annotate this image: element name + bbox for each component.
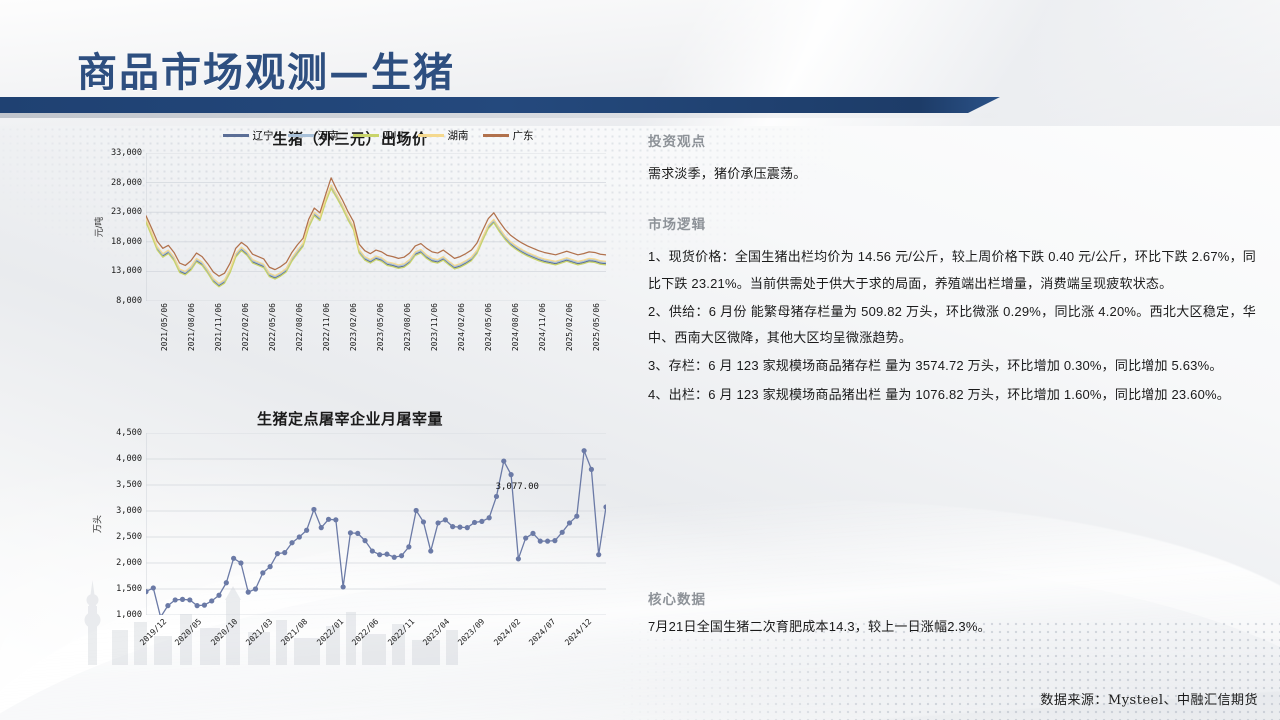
market-logic-item: 2、供给：6 月份 能繁母猪存栏量为 509.82 万头，环比微涨 0.29%，… xyxy=(648,299,1256,352)
core-data-text: 7月21日全国生猪二次育肥成本14.3，较上一日涨幅2.3%。 xyxy=(648,616,1256,638)
core-data-heading: 核心数据 xyxy=(648,588,1256,608)
x-axis-tick: 2022/11/06 xyxy=(322,303,331,351)
market-logic-item: 4、出栏：6 月 123 家规模场商品猪出栏 量为 1076.82 万头，环比增… xyxy=(648,382,1256,408)
x-axis-tick: 2019/12 xyxy=(138,617,168,647)
x-axis-tick: 2024/08/06 xyxy=(511,303,520,351)
x-axis-tick: 2025/02/06 xyxy=(565,303,574,351)
x-axis-tick: 2024/07 xyxy=(527,617,557,647)
x-axis-tick: 2021/11/06 xyxy=(214,303,223,351)
header-accent-bar-shadow xyxy=(0,113,1000,118)
slide-canvas: 商品市场观测—生猪 生猪（外三元）出场价 元/吨 8,00013,00018,0… xyxy=(0,0,1280,720)
x-axis-tick: 2022/02/06 xyxy=(241,303,250,351)
x-axis-tick: 2024/11/06 xyxy=(538,303,547,351)
legend-label: 辽宁 xyxy=(253,128,274,143)
x-axis-tick: 2023/08/06 xyxy=(403,303,412,351)
y-axis-tick: 23,000 xyxy=(111,207,142,217)
x-axis-tick: 2021/05/06 xyxy=(160,303,169,351)
market-logic-list: 1、现货价格：全国生猪出栏均价为 14.56 元/公斤，较上周价格下跌 0.40… xyxy=(648,244,1256,408)
core-data-panel: 核心数据 7月21日全国生猪二次育肥成本14.3，较上一日涨幅2.3%。 xyxy=(648,588,1256,640)
x-axis-tick: 2022/01 xyxy=(315,617,345,647)
y-axis-tick: 1,500 xyxy=(116,584,142,594)
header-accent-bar xyxy=(0,97,920,113)
x-axis-tick: 2022/11 xyxy=(386,617,416,647)
market-logic-heading: 市场逻辑 xyxy=(648,213,1256,233)
y-axis-tick: 2,500 xyxy=(116,532,142,542)
legend-swatch xyxy=(288,134,314,137)
legend-swatch xyxy=(483,134,509,137)
x-axis-tick: 2021/08/06 xyxy=(187,303,196,351)
chart-slaughter-volume: 生猪定点屠宰企业月屠宰量 万头 1,0001,5002,0002,5003,00… xyxy=(90,408,610,673)
legend-swatch xyxy=(418,134,444,137)
y-axis-tick: 3,000 xyxy=(116,506,142,516)
legend-item: 河南 xyxy=(288,128,339,143)
chart-hog-price-xaxis: 2021/05/062021/08/062021/11/062022/02/06… xyxy=(146,301,606,371)
y-axis-tick: 33,000 xyxy=(111,148,142,158)
x-axis-tick: 2024/05/06 xyxy=(484,303,493,351)
investment-view-text: 需求淡季，猪价承压震荡。 xyxy=(648,161,1256,187)
investment-view-heading: 投资观点 xyxy=(648,130,1256,150)
y-axis-tick: 4,000 xyxy=(116,454,142,464)
x-axis-tick: 2020/05 xyxy=(173,617,203,647)
y-axis-tick: 18,000 xyxy=(111,237,142,247)
legend-label: 河南 xyxy=(318,128,339,143)
x-axis-tick: 2022/08/06 xyxy=(295,303,304,351)
x-axis-tick: 2023/11/06 xyxy=(430,303,439,351)
x-axis-tick: 2022/05/06 xyxy=(268,303,277,351)
legend-swatch xyxy=(223,134,249,137)
legend-item: 湖南 xyxy=(418,128,469,143)
x-axis-tick: 2020/10 xyxy=(209,617,239,647)
y-axis-tick: 28,000 xyxy=(111,178,142,188)
x-axis-tick: 2021/08 xyxy=(280,617,310,647)
legend-swatch xyxy=(353,134,379,137)
chart-slaughter-volume-xaxis: 2019/122020/052020/102021/032021/082022/… xyxy=(146,615,606,685)
x-axis-tick: 2024/02 xyxy=(492,617,522,647)
x-axis-tick: 2023/02/06 xyxy=(349,303,358,351)
legend-label: 湖南 xyxy=(448,128,469,143)
legend-item: 辽宁 xyxy=(223,128,274,143)
chart-slaughter-volume-yaxis: 1,0001,5002,0002,5003,0003,5004,0004,500 xyxy=(100,433,144,615)
market-logic-item: 1、现货价格：全国生猪出栏均价为 14.56 元/公斤，较上周价格下跌 0.40… xyxy=(648,244,1256,297)
chart-slaughter-volume-title: 生猪定点屠宰企业月屠宰量 xyxy=(90,408,610,429)
x-axis-tick: 2021/03 xyxy=(244,617,274,647)
x-axis-tick: 2022/06 xyxy=(350,617,380,647)
legend-label: 广东 xyxy=(513,128,534,143)
y-axis-tick: 4,500 xyxy=(116,428,142,438)
x-axis-tick: 2025/05/06 xyxy=(592,303,601,351)
x-axis-tick: 2024/12 xyxy=(563,617,593,647)
legend-label: 四川 xyxy=(383,128,404,143)
chart-hog-price-plot xyxy=(146,153,606,301)
y-axis-tick: 13,000 xyxy=(111,266,142,276)
chart-slaughter-volume-plot: 3,077.00 xyxy=(146,433,606,615)
data-source-footer: 数据来源：Mysteel、中融汇信期货 xyxy=(1040,689,1258,708)
chart-hog-price-yaxis: 8,00013,00018,00023,00028,00033,000 xyxy=(100,153,144,301)
chart-hog-price: 生猪（外三元）出场价 元/吨 8,00013,00018,00023,00028… xyxy=(90,128,610,393)
chart-slaughter-volume-last-value-label: 3,077.00 xyxy=(496,482,539,492)
x-axis-tick: 2023/09 xyxy=(457,617,487,647)
analysis-panel: 投资观点 需求淡季，猪价承压震荡。 市场逻辑 1、现货价格：全国生猪出栏均价为 … xyxy=(648,130,1256,410)
y-axis-tick: 3,500 xyxy=(116,480,142,490)
legend-item: 四川 xyxy=(353,128,404,143)
x-axis-tick: 2024/02/06 xyxy=(457,303,466,351)
chart-hog-price-legend: 辽宁河南四川湖南广东 xyxy=(146,128,610,143)
legend-item: 广东 xyxy=(483,128,534,143)
x-axis-tick: 2023/05/06 xyxy=(376,303,385,351)
market-logic-item: 3、存栏：6 月 123 家规模场商品猪存栏 量为 3574.72 万头，环比增… xyxy=(648,353,1256,379)
y-axis-tick: 2,000 xyxy=(116,558,142,568)
page-title: 商品市场观测—生猪 xyxy=(77,40,455,98)
x-axis-tick: 2023/04 xyxy=(421,617,451,647)
